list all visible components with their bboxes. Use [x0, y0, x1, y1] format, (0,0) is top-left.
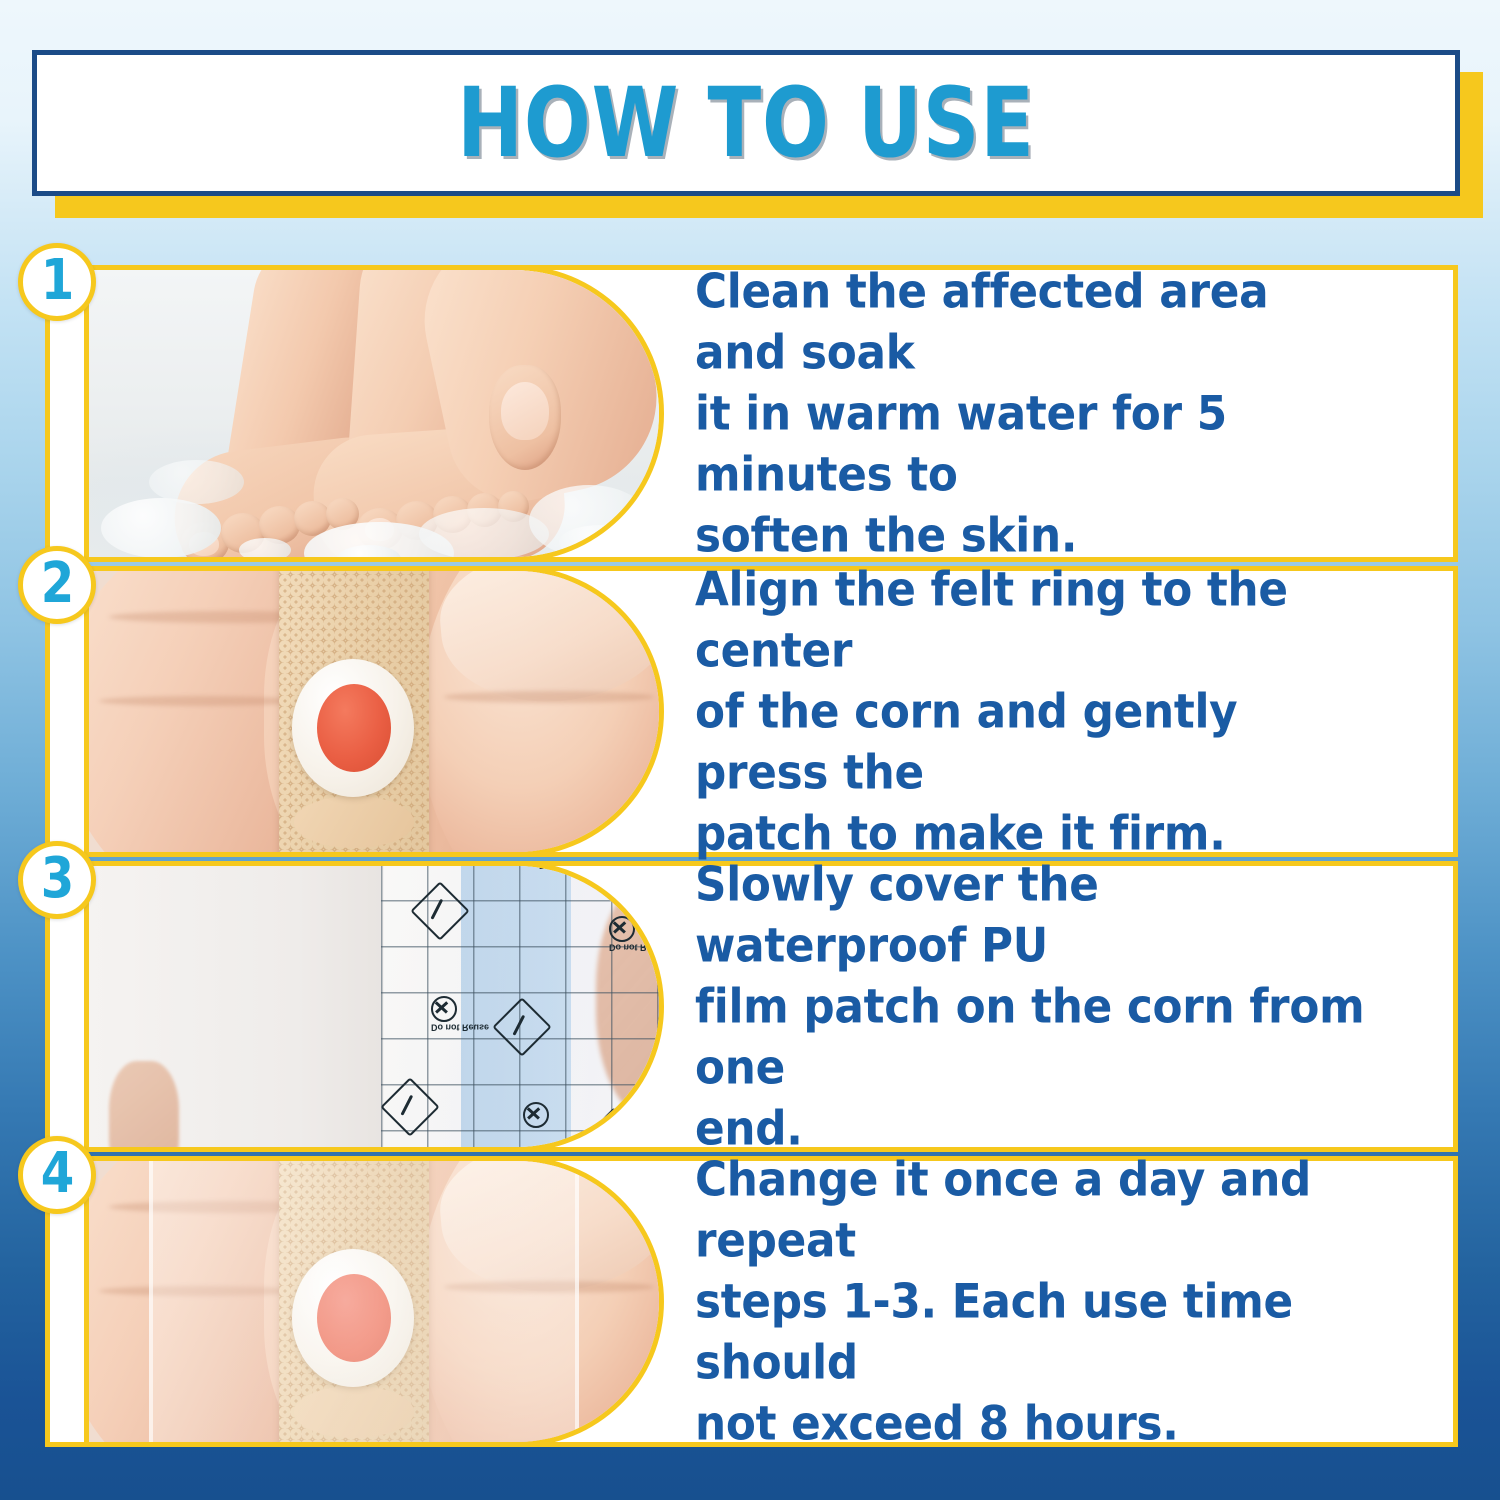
- step-text-line: Align the felt ring to the center: [695, 559, 1374, 681]
- step-text-line: film patch on the corn from one: [695, 976, 1374, 1098]
- step-card-4: 4: [45, 1156, 1458, 1447]
- waterproof-pu-film-sheet-photo: Do not Reuse Do not Reuse Do not Reuse: [84, 861, 664, 1152]
- step-text-line: Slowly cover the waterproof PU: [695, 854, 1374, 976]
- do-not-reuse-caption: Do not Reuse: [431, 1022, 489, 1031]
- step-number-3: 3: [40, 851, 74, 907]
- step-card-1: 1: [45, 265, 1458, 562]
- step-number-badge-3: 3: [18, 841, 96, 919]
- peel-diamond-icon: [410, 881, 469, 940]
- step-text-line: steps 1-3. Each use time should: [695, 1271, 1374, 1393]
- step-text-3: Slowly cover the waterproof PU film patc…: [695, 854, 1425, 1159]
- step-text-2: Align the felt ring to the center of the…: [695, 559, 1425, 864]
- step-photo-wrap-1: [84, 265, 664, 562]
- do-not-reuse-caption: Do not Reuse: [609, 942, 664, 951]
- step-number-badge-1: 1: [18, 243, 96, 321]
- header-box: HOW TO USE: [32, 50, 1460, 196]
- feet-soaking-in-soapy-water-photo: [84, 265, 664, 562]
- step-photo-wrap-3: Do not Reuse Do not Reuse Do not Reuse: [84, 861, 664, 1152]
- toe-with-patch-covered-by-pu-film-photo: [84, 1156, 664, 1447]
- do-not-reuse-icon: [431, 996, 457, 1022]
- step-number-badge-4: 4: [18, 1136, 96, 1214]
- step-text-1: Clean the affected area and soak it in w…: [695, 261, 1425, 566]
- step-text-line: of the corn and gently press the: [695, 681, 1374, 803]
- step-card-3: 3: [45, 861, 1458, 1152]
- page-title: HOW TO USE: [165, 55, 1328, 191]
- do-not-reuse-icon: [609, 916, 635, 942]
- step-number-1: 1: [40, 253, 74, 309]
- step-card-2: 2 Align: [45, 566, 1458, 857]
- step-number-4: 4: [40, 1146, 74, 1202]
- step-text-line: Clean the affected area and soak: [695, 261, 1374, 383]
- step-photo-wrap-2: [84, 566, 664, 857]
- step-photo-wrap-4: [84, 1156, 664, 1447]
- pu-film-overlay: [149, 1156, 579, 1447]
- infographic-page: HOW TO USE 1: [0, 0, 1500, 1500]
- do-not-reuse-caption: Do not Reuse: [539, 861, 597, 869]
- step-text-line: it in warm water for 5 minutes to: [695, 383, 1374, 505]
- step-text-line: soften the skin.: [695, 505, 1374, 566]
- peel-diamond-icon: [381, 1077, 440, 1136]
- step-number-2: 2: [40, 556, 74, 612]
- step-text-line: not exceed 8 hours.: [695, 1393, 1374, 1454]
- step-text-4: Change it once a day and repeat steps 1-…: [695, 1149, 1425, 1454]
- peel-diamond-icon: [492, 997, 551, 1056]
- toe-with-felt-ring-corn-patch-photo: [84, 566, 664, 857]
- corn-pad-center: [317, 684, 391, 772]
- step-number-badge-2: 2: [18, 546, 96, 624]
- step-text-line: Change it once a day and repeat: [695, 1149, 1374, 1271]
- header: HOW TO USE: [0, 0, 1500, 240]
- do-not-reuse-icon: [523, 1102, 549, 1128]
